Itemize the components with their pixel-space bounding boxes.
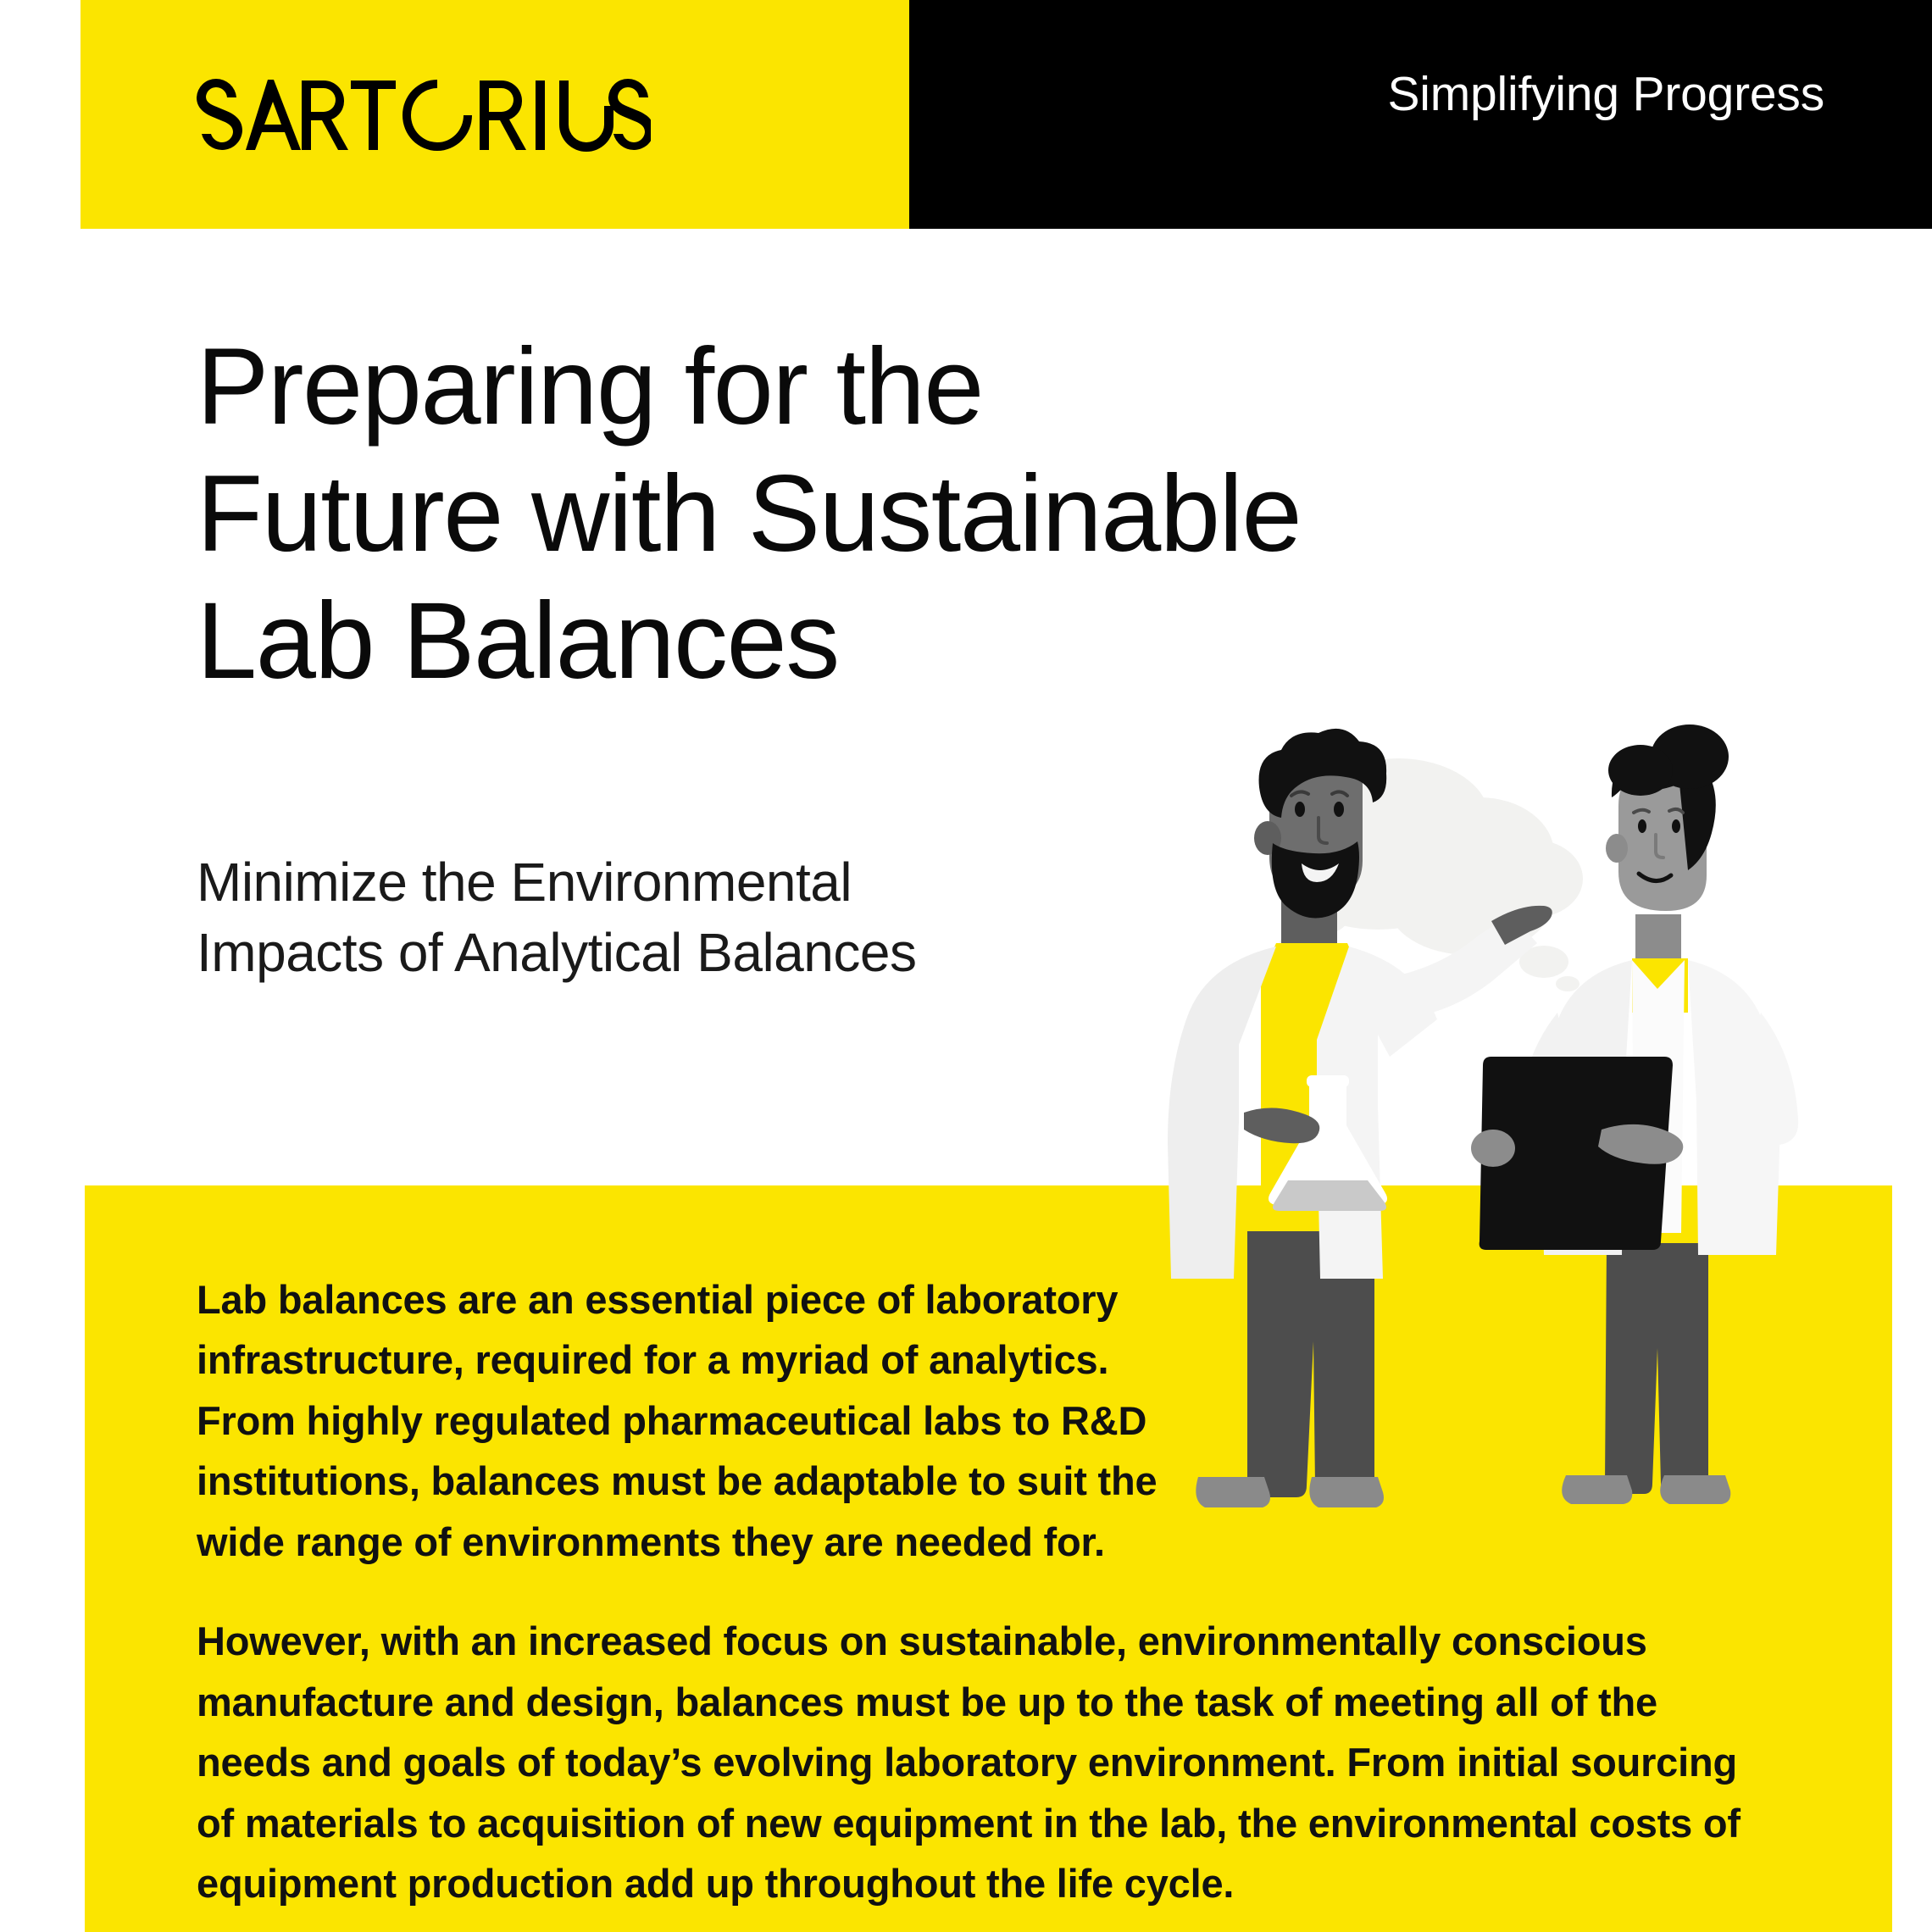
page-subtitle: Minimize the Environmental Impacts of An… (197, 847, 1213, 988)
body-paragraph-1: Lab balances are an essential piece of l… (197, 1269, 1857, 1572)
subtitle-line-1: Minimize the Environmental (197, 847, 1213, 918)
intro-body-copy: Lab balances are an essential piece of l… (197, 1269, 1857, 1913)
headline-line-3: Lab Balances (197, 578, 1773, 705)
body-paragraph-2: However, with an increased focus on sust… (197, 1611, 1857, 1913)
page-title: Preparing for the Future with Sustainabl… (197, 324, 1773, 704)
sartorius-wordmark-icon[interactable] (193, 75, 651, 155)
page-header: Simplifying Progress (0, 0, 1932, 229)
headline-line-2: Future with Sustainable (197, 451, 1773, 578)
header-tagline: Simplifying Progress (1387, 66, 1824, 122)
headline-line-1: Preparing for the (197, 324, 1773, 451)
subtitle-line-2: Impacts of Analytical Balances (197, 918, 1213, 988)
